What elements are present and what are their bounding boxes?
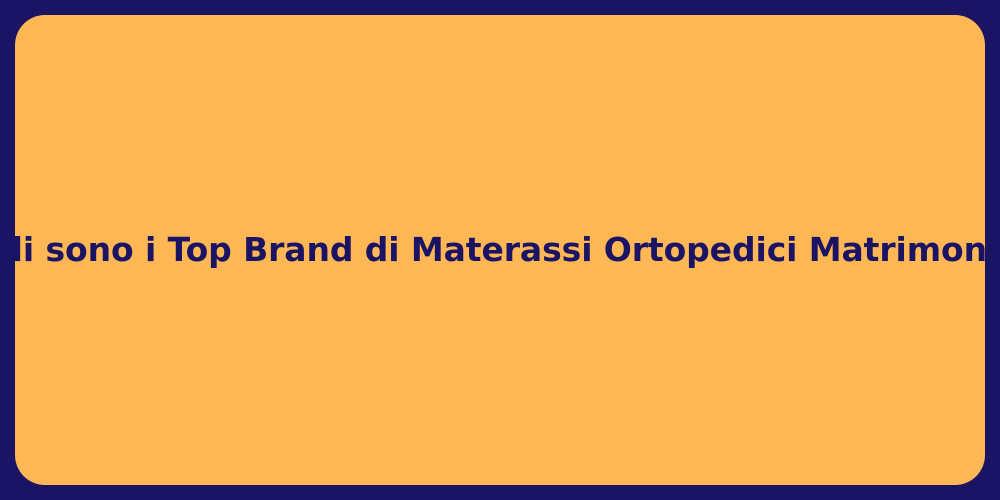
banner-frame: Quali sono i Top Brand di Materassi Orto… (0, 0, 1000, 500)
banner-card: Quali sono i Top Brand di Materassi Orto… (15, 15, 985, 485)
banner-headline: Quali sono i Top Brand di Materassi Orto… (0, 229, 1000, 270)
